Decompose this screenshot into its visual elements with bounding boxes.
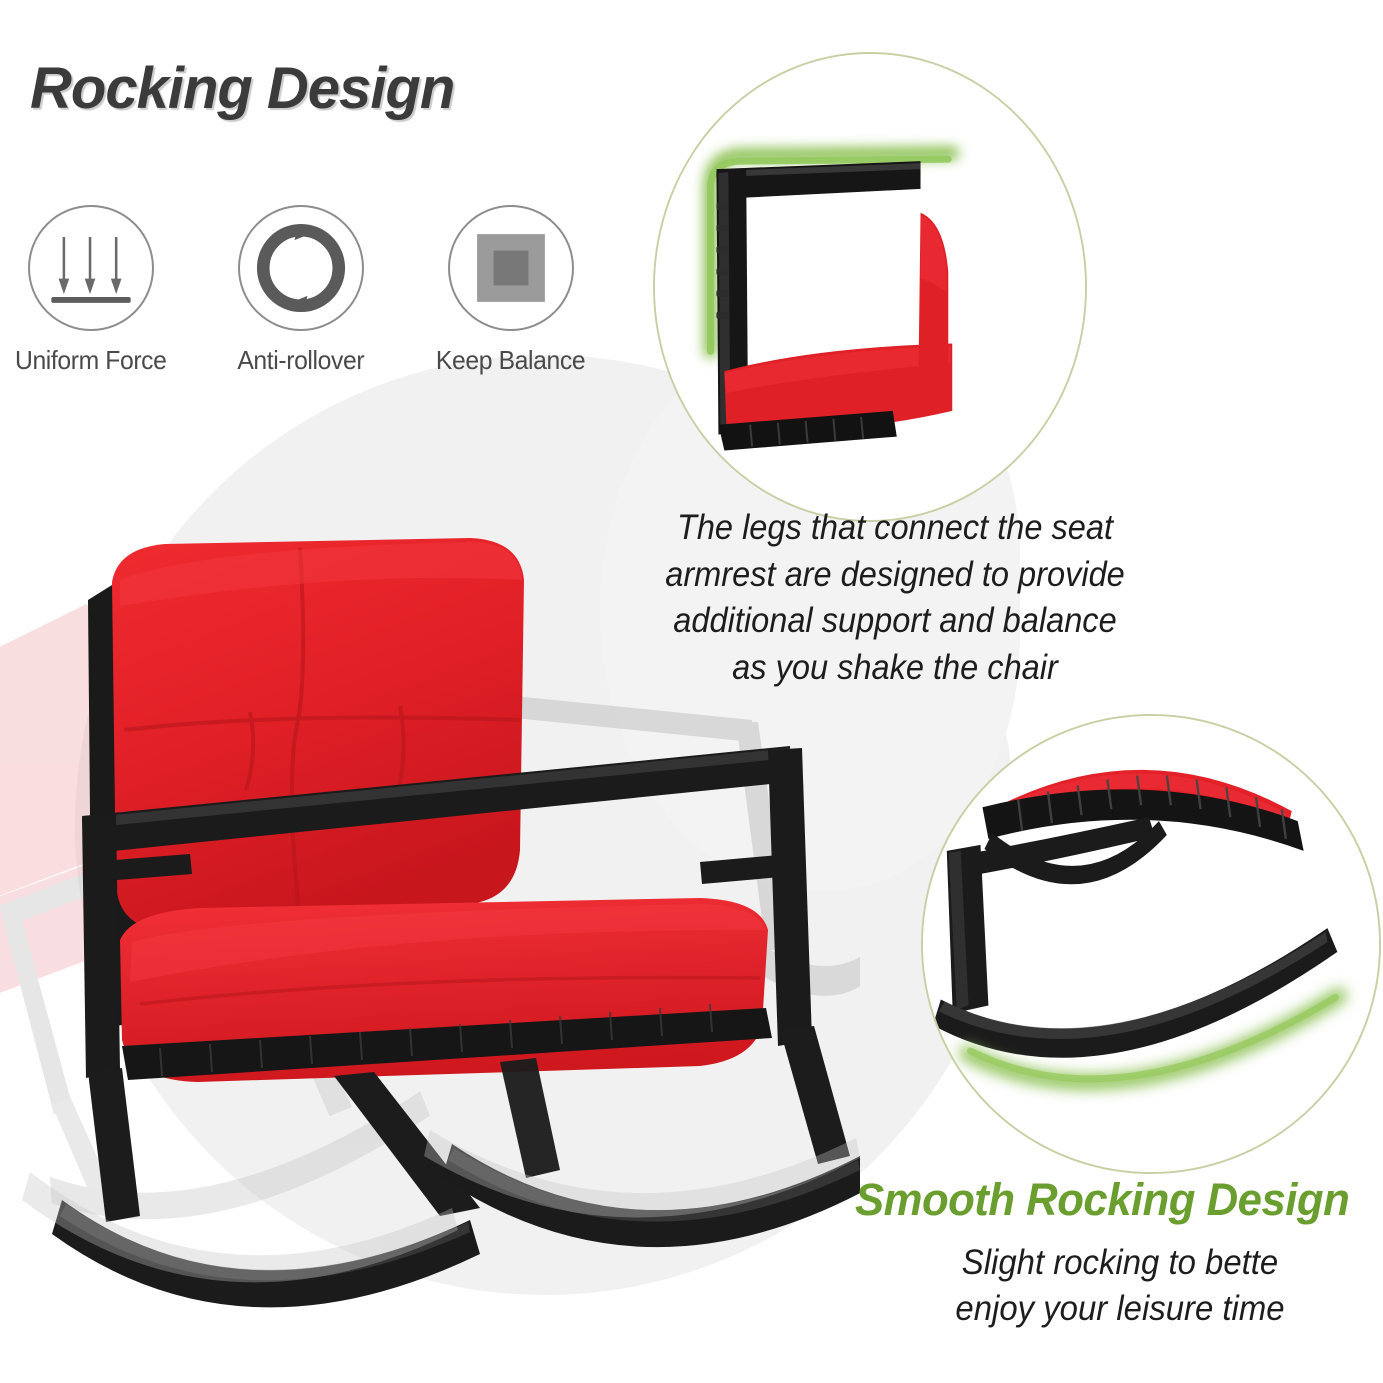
badge-circle — [28, 205, 154, 331]
feature-badge-anti-rollover: Anti-rollover — [226, 205, 376, 376]
badge-circle — [448, 205, 574, 331]
feature-badge-keep-balance: Keep Balance — [436, 205, 586, 376]
feature-label: Keep Balance — [436, 345, 585, 376]
feature-label: Anti-rollover — [238, 345, 365, 376]
callout-legs-line: armrest are designed to provide — [632, 552, 1158, 599]
callout-smooth-line: enjoy your leisure time — [894, 1286, 1345, 1332]
callout-smooth-heading: Smooth Rocking Design — [855, 1174, 1367, 1226]
callout-legs-line: as you shake the chair — [632, 645, 1158, 692]
feature-badge-row: Uniform Force Anti-rollover — [16, 205, 586, 376]
page-title: Rocking Design — [30, 55, 454, 122]
callout-smooth-line: Slight rocking to bette — [894, 1240, 1345, 1286]
feature-badge-uniform-force: Uniform Force — [16, 205, 166, 376]
callout-legs-text: The legs that connect the seat armrest a… — [632, 505, 1158, 691]
feature-label: Uniform Force — [15, 345, 167, 376]
armrest-front-post-left — [82, 814, 120, 1078]
callout-legs-line: additional support and balance — [632, 598, 1158, 645]
rocker-base-detail-svg — [923, 716, 1379, 1172]
callout-smooth-text: Slight rocking to bette enjoy your leisu… — [894, 1240, 1345, 1332]
infographic-canvas: Rocking Design U — [0, 0, 1383, 1383]
leg-rear-right — [500, 1058, 560, 1178]
armrest-leg-detail-svg — [655, 54, 1085, 520]
inset-rocker-base-detail — [921, 714, 1381, 1174]
nested-squares-icon — [450, 207, 572, 329]
inset-armrest-leg-detail — [653, 52, 1087, 522]
downward-arrows-icon — [30, 207, 152, 329]
rotation-arrows-icon — [240, 207, 362, 329]
armrest-front-post-right — [768, 748, 812, 1046]
leg-front-right — [780, 1026, 850, 1164]
callout-legs-line: The legs that connect the seat — [632, 505, 1158, 552]
badge-circle — [238, 205, 364, 331]
